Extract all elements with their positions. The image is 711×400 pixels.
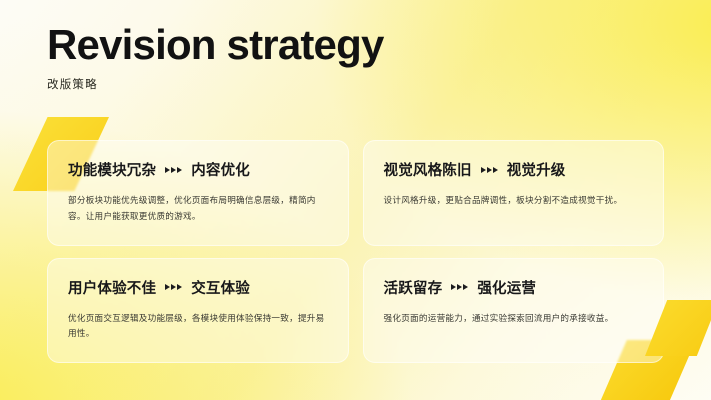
slide-canvas: Revision strategy 改版策略 功能模块冗杂 内容优化 部分板块功… (0, 0, 711, 400)
triple-arrow-right-icon (481, 167, 498, 173)
triple-arrow-right-icon (165, 284, 182, 290)
card-body-text: 优化页面交互逻辑及功能层级，各模块使用体验保持一致，提升易用性。 (68, 311, 328, 343)
triple-arrow-right-icon (165, 167, 182, 173)
card-interaction-experience[interactable]: 用户体验不佳 交互体验 优化页面交互逻辑及功能层级，各模块使用体验保持一致，提升… (47, 258, 349, 364)
card-grid: 功能模块冗杂 内容优化 部分板块功能优先级调整，优化页面布局明确信息层级，精简内… (47, 140, 664, 363)
card-content-optimization[interactable]: 功能模块冗杂 内容优化 部分板块功能优先级调整，优化页面布局明确信息层级，精简内… (47, 140, 349, 246)
card-problem-label: 用户体验不佳 (68, 277, 156, 298)
card-solution-label: 交互体验 (191, 277, 250, 298)
slide-header: Revision strategy 改版策略 (47, 22, 384, 92)
page-subtitle: 改版策略 (47, 76, 384, 92)
card-problem-label: 活跃留存 (384, 277, 443, 298)
card-heading: 功能模块冗杂 内容优化 (68, 159, 328, 180)
card-visual-upgrade[interactable]: 视觉风格陈旧 视觉升级 设计风格升级，更贴合品牌调性，板块分割不造成视觉干扰。 (363, 140, 665, 246)
card-solution-label: 内容优化 (191, 159, 250, 180)
card-operations-enhancement[interactable]: 活跃留存 强化运营 强化页面的运营能力，通过实验探索回流用户的承接收益。 (363, 258, 665, 364)
card-heading: 活跃留存 强化运营 (384, 277, 644, 298)
card-solution-label: 视觉升级 (507, 159, 566, 180)
card-body-text: 设计风格升级，更贴合品牌调性，板块分割不造成视觉干扰。 (384, 193, 644, 209)
card-problem-label: 功能模块冗杂 (68, 159, 156, 180)
card-solution-label: 强化运营 (477, 277, 536, 298)
card-body-text: 强化页面的运营能力，通过实验探索回流用户的承接收益。 (384, 311, 644, 327)
card-heading: 用户体验不佳 交互体验 (68, 277, 328, 298)
card-heading: 视觉风格陈旧 视觉升级 (384, 159, 644, 180)
card-problem-label: 视觉风格陈旧 (384, 159, 472, 180)
triple-arrow-right-icon (451, 284, 468, 290)
page-title: Revision strategy (47, 22, 384, 67)
card-body-text: 部分板块功能优先级调整，优化页面布局明确信息层级，精简内容。让用户能获取更优质的… (68, 193, 328, 225)
